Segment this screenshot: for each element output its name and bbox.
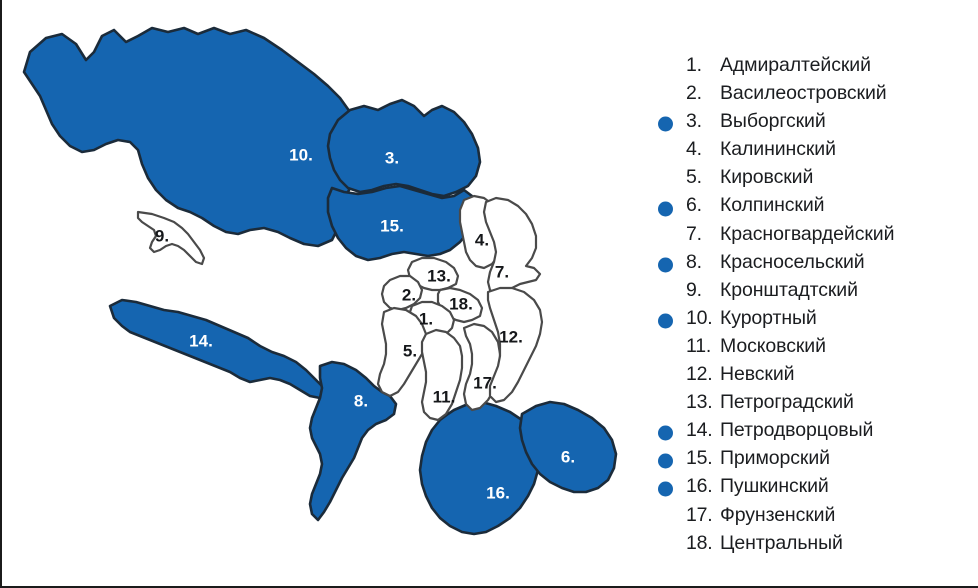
legend-item-2[interactable]: 2.Василеостровский <box>654 82 974 110</box>
legend-item-number: 15. <box>686 447 720 470</box>
legend-item-17[interactable]: 17.Фрунзенский <box>654 504 974 532</box>
legend-item-15[interactable]: 15.Приморский <box>654 447 974 475</box>
legend-item-9[interactable]: 9.Кронштадтский <box>654 279 974 307</box>
legend-bullet-cell <box>654 194 686 222</box>
legend-bullet-cell <box>654 279 686 307</box>
legend-item-3[interactable]: 3.Выборгский <box>654 110 974 138</box>
map-page: 1. 2. 3. 4. 5. 6. 7. 8. 9. 10. 11. 12. 1… <box>0 0 978 588</box>
legend-item-name: Невский <box>720 363 794 386</box>
legend-item-number: 17. <box>686 504 720 527</box>
legend-item-16[interactable]: 16.Пушкинский <box>654 475 974 503</box>
legend-bullet-cell <box>654 335 686 363</box>
legend-bullet-cell <box>654 223 686 251</box>
district-region-10[interactable] <box>24 28 362 246</box>
legend-item-number: 18. <box>686 532 720 555</box>
legend-item-name: Кронштадтский <box>720 279 858 302</box>
legend-item-14[interactable]: 14.Петродворцовый <box>654 419 974 447</box>
legend-bullet-cell <box>654 504 686 532</box>
legend-item-name: Василеостровский <box>720 82 887 105</box>
legend-item-name: Калининский <box>720 138 836 161</box>
district-region-5[interactable] <box>378 308 426 396</box>
legend-item-name: Московский <box>720 335 826 358</box>
legend-item-number: 14. <box>686 419 720 442</box>
legend-bullet-dot-icon <box>658 482 673 497</box>
legend-bullet-dot-icon <box>658 257 673 272</box>
legend-item-4[interactable]: 4.Калининский <box>654 138 974 166</box>
legend-bullet-cell <box>654 419 686 447</box>
legend-item-18[interactable]: 18.Центральный <box>654 532 974 560</box>
district-region-11[interactable] <box>422 330 462 420</box>
legend-item-name: Пушкинский <box>720 475 829 498</box>
legend-item-name: Кировский <box>720 166 813 189</box>
legend-item-11[interactable]: 11.Московский <box>654 335 974 363</box>
legend-bullet-dot-icon <box>658 201 673 216</box>
legend-item-name: Красногвардейский <box>720 223 894 246</box>
district-legend: 1.Адмиралтейский2.Василеостровский3.Выбо… <box>654 54 974 560</box>
legend-item-name: Колпинский <box>720 194 824 217</box>
legend-item-number: 12. <box>686 363 720 386</box>
legend-item-number: 9. <box>686 279 720 302</box>
legend-bullet-cell <box>654 363 686 391</box>
district-map-svg: 1. 2. 3. 4. 5. 6. 7. 8. 9. 10. 11. 12. 1… <box>2 0 662 588</box>
legend-item-name: Фрунзенский <box>720 504 835 527</box>
legend-item-7[interactable]: 7.Красногвардейский <box>654 223 974 251</box>
legend-bullet-dot-icon <box>658 117 673 132</box>
legend-bullet-cell <box>654 110 686 138</box>
legend-item-1[interactable]: 1.Адмиралтейский <box>654 54 974 82</box>
legend-item-number: 5. <box>686 166 720 189</box>
legend-item-name: Выборгский <box>720 110 826 133</box>
district-region-3[interactable] <box>328 100 480 196</box>
legend-item-5[interactable]: 5.Кировский <box>654 166 974 194</box>
legend-item-number: 10. <box>686 307 720 330</box>
legend-item-number: 1. <box>686 54 720 77</box>
legend-item-name: Приморский <box>720 447 830 470</box>
legend-item-name: Центральный <box>720 532 843 555</box>
legend-item-name: Петроградский <box>720 391 854 414</box>
legend-item-6[interactable]: 6.Колпинский <box>654 194 974 222</box>
district-region-14[interactable] <box>110 300 328 398</box>
legend-bullet-cell <box>654 54 686 82</box>
legend-item-name: Адмиралтейский <box>720 54 871 77</box>
legend-item-10[interactable]: 10.Курортный <box>654 307 974 335</box>
legend-item-number: 11. <box>686 335 720 358</box>
legend-item-12[interactable]: 12.Невский <box>654 363 974 391</box>
legend-bullet-cell <box>654 447 686 475</box>
legend-item-8[interactable]: 8.Красносельский <box>654 251 974 279</box>
district-region-9[interactable] <box>138 212 204 264</box>
legend-bullet-dot-icon <box>658 426 673 441</box>
legend-item-number: 3. <box>686 110 720 133</box>
legend-bullet-cell <box>654 166 686 194</box>
legend-bullet-cell <box>654 475 686 503</box>
legend-bullet-cell <box>654 251 686 279</box>
legend-bullet-cell <box>654 307 686 335</box>
legend-bullet-cell <box>654 532 686 560</box>
legend-bullet-cell <box>654 391 686 419</box>
legend-item-number: 6. <box>686 194 720 217</box>
legend-item-name: Петродворцовый <box>720 419 873 442</box>
map-area: 1. 2. 3. 4. 5. 6. 7. 8. 9. 10. 11. 12. 1… <box>2 0 662 588</box>
legend-bullet-cell <box>654 82 686 110</box>
legend-item-number: 8. <box>686 251 720 274</box>
legend-bullet-cell <box>654 138 686 166</box>
district-region-15[interactable] <box>328 186 476 260</box>
legend-bullet-dot-icon <box>658 454 673 469</box>
legend-item-13[interactable]: 13.Петроградский <box>654 391 974 419</box>
legend-item-name: Курортный <box>720 307 817 330</box>
legend-item-number: 16. <box>686 475 720 498</box>
legend-item-number: 13. <box>686 391 720 414</box>
legend-item-number: 7. <box>686 223 720 246</box>
legend-item-number: 4. <box>686 138 720 161</box>
legend-item-name: Красносельский <box>720 251 865 274</box>
legend-item-number: 2. <box>686 82 720 105</box>
legend-bullet-dot-icon <box>658 313 673 328</box>
